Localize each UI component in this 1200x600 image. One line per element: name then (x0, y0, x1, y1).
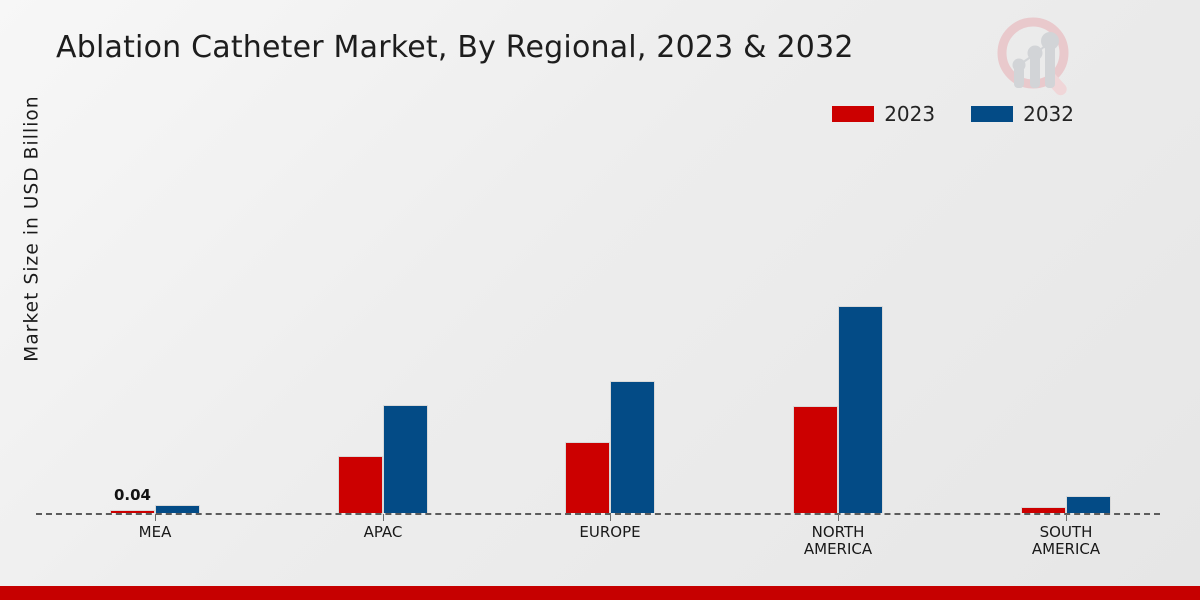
x-axis-tick-europe (610, 514, 611, 521)
x-axis-label-line: SOUTH (976, 524, 1156, 541)
bar-south-america-2023[interactable] (1021, 507, 1066, 513)
bar-mea-2032[interactable] (155, 505, 200, 513)
footer-accent-bar (0, 586, 1200, 600)
x-axis-label-south-america: SOUTHAMERICA (976, 524, 1156, 558)
bar-europe-2032[interactable] (610, 381, 655, 513)
bar-apac-2023[interactable] (338, 456, 383, 513)
x-axis-label-line: EUROPE (520, 524, 700, 541)
bar-north-america-2032[interactable] (838, 306, 883, 513)
x-axis-label-europe: EUROPE (520, 524, 700, 541)
x-axis-label-line: AMERICA (976, 541, 1156, 558)
bar-europe-2023[interactable] (565, 442, 610, 513)
x-axis-label-line: NORTH (748, 524, 928, 541)
plot-area: MEAAPACEUROPENORTHAMERICASOUTHAMERICA0.0… (0, 0, 1200, 600)
x-axis-label-line: AMERICA (748, 541, 928, 558)
bar-group-north-america (793, 306, 883, 513)
bar-group-europe (565, 381, 655, 513)
bar-mea-2023[interactable] (110, 510, 155, 513)
x-axis-baseline (36, 513, 1160, 515)
bar-apac-2032[interactable] (383, 405, 428, 513)
x-axis-label-north-america: NORTHAMERICA (748, 524, 928, 558)
bar-north-america-2023[interactable] (793, 406, 838, 513)
x-axis-tick-apac (383, 514, 384, 521)
x-axis-label-line: MEA (65, 524, 245, 541)
x-axis-tick-mea (155, 514, 156, 521)
chart-canvas: Ablation Catheter Market, By Regional, 2… (0, 0, 1200, 600)
bar-group-apac (338, 405, 428, 513)
bar-group-mea (110, 505, 200, 513)
bar-south-america-2032[interactable] (1066, 496, 1111, 513)
x-axis-label-apac: APAC (293, 524, 473, 541)
x-axis-tick-south-america (1066, 514, 1067, 521)
x-axis-label-mea: MEA (65, 524, 245, 541)
data-label-mea-2023: 0.04 (110, 486, 155, 504)
x-axis-tick-north-america (838, 514, 839, 521)
x-axis-label-line: APAC (293, 524, 473, 541)
bar-group-south-america (1021, 496, 1111, 513)
